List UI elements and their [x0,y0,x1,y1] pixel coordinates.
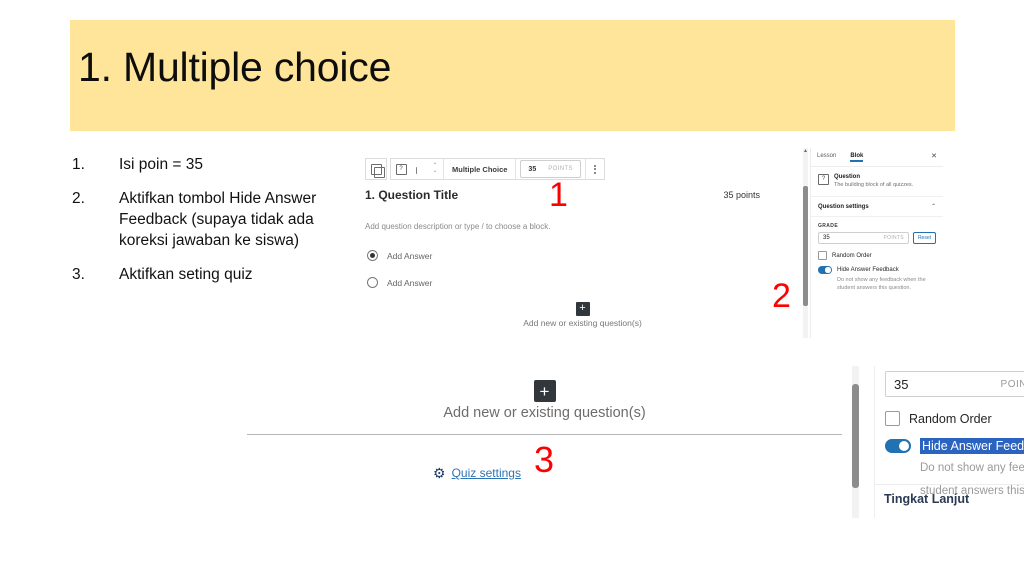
inset-hide-feedback-row[interactable]: Hide Answer Feedba [885,438,1024,454]
inset-grade-unit: POIN [1001,379,1024,390]
grade-label: GRADE [818,223,936,229]
blocks-icon [371,164,382,175]
move-block-arrows[interactable]: ⌃ ⌄ [427,164,443,174]
list-item-number: 3. [72,265,119,286]
lower-add-question-label[interactable]: Add new or existing question(s) [247,405,842,421]
question-icon: ? [818,174,829,185]
answer-label: Add Answer [387,278,432,288]
quiz-settings-link[interactable]: Quiz settings [452,466,521,480]
inset-hide-feedback-label: Hide Answer Feedba [920,438,1024,454]
reset-button[interactable]: Reset [913,232,936,244]
list-item-text: Aktifkan seting quiz [119,265,253,286]
tab-blok[interactable]: Blok [850,153,863,162]
answer-option-2[interactable]: Add Answer [367,277,432,288]
list-item-text: Isi poin = 35 [119,155,203,176]
close-icon[interactable]: ✕ [931,152,937,160]
random-order-label: Random Order [832,253,872,259]
quiz-settings-row[interactable]: ⚙ Quiz settings [247,466,707,480]
points-unit: POINTS [548,166,573,172]
question-settings-title: Question settings [818,204,869,210]
toggle-switch-on[interactable] [818,266,832,274]
hide-answer-feedback-row[interactable]: Hide Answer Feedback [818,266,936,274]
question-block-button[interactable]: ? [391,159,411,179]
inset-next-section-label: Tingkat Lanjut [884,492,969,506]
points-value: 35 [528,166,536,173]
more-options-icon[interactable] [586,165,604,174]
list-item: 2. Aktifkan tombol Hide Answer Feedback … [72,189,337,252]
answer-option-1[interactable]: Add Answer [367,250,432,261]
instruction-list: 1. Isi poin = 35 2. Aktifkan tombol Hide… [72,155,337,299]
question-description-placeholder[interactable]: Add question description or type / to ch… [365,222,550,231]
chevron-down-icon: ⌄ [432,169,437,174]
gear-icon: ⚙ [433,466,446,480]
drag-handle-icon[interactable] [411,167,427,172]
toolbar-group-main: ? ⌃ ⌄ Multiple Choice 35 POINTS [390,158,605,180]
inset-grade-input[interactable]: 35 POIN [885,371,1024,397]
add-question-area: + Add new or existing question(s) [360,298,805,328]
divider [247,434,842,435]
hide-answer-feedback-label: Hide Answer Feedback [837,267,899,273]
radio-icon[interactable] [367,277,378,288]
chevron-up-icon[interactable]: ⌃ [931,203,936,210]
question-title[interactable]: 1. Question Title [365,188,458,202]
list-item-number: 1. [72,155,119,176]
settings-panel-zoom-inset: 35 POIN Random Order Hide Answer Feedba … [852,366,1024,518]
plus-icon[interactable]: + [576,302,590,316]
page-title: 1. Multiple choice [78,44,391,91]
divider [874,484,1024,485]
inset-grade-value: 35 [894,377,908,392]
question-settings-body: GRADE 35 POINTS Reset Random Order Hide … [811,217,943,299]
add-question-label[interactable]: Add new or existing question(s) [360,318,805,328]
grade-points-input[interactable]: 35 POINTS [818,232,909,244]
list-item-number: 2. [72,189,119,252]
block-description: The building block of all quizzes. [834,182,913,188]
grade-row: 35 POINTS Reset [818,232,936,244]
editor-scrollbar[interactable]: ▲ [803,148,808,338]
inset-random-order-row[interactable]: Random Order [885,411,1024,426]
settings-panel: Lesson Blok ✕ ? Question The building bl… [810,148,943,338]
list-item: 1. Isi poin = 35 [72,155,337,176]
plus-icon[interactable]: + [534,380,556,402]
question-editor-screenshot: ? ⌃ ⌄ Multiple Choice 35 POINTS [360,148,805,338]
checkbox-icon[interactable] [885,411,900,426]
checkbox-icon[interactable] [818,251,827,260]
list-item: 3. Aktifkan seting quiz [72,265,337,286]
radio-icon-selected[interactable] [367,250,378,261]
random-order-row[interactable]: Random Order [818,251,936,260]
answer-label: Add Answer [387,251,432,261]
inset-scrollbar[interactable] [852,366,859,518]
lower-add-question-area: + Add new or existing question(s) [247,380,842,421]
scrollbar-thumb[interactable] [803,186,808,306]
block-info: ? Question The building block of all qui… [811,167,943,197]
toolbar-group-block [365,158,387,180]
annotation-2: 2 [772,279,791,313]
inset-bottom-mask [852,518,1024,576]
annotation-3: 3 [534,443,554,477]
grade-points-unit: POINTS [884,235,904,241]
block-switcher-button[interactable] [366,159,386,179]
slide: 1. Multiple choice 1. Isi poin = 35 2. A… [0,0,1024,576]
grade-points-value: 35 [823,235,830,241]
question-settings-header[interactable]: Question settings ⌃ [811,197,943,217]
list-item-text: Aktifkan tombol Hide Answer Feedback (su… [119,189,337,252]
inset-description-line1: Do not show any feed [920,460,1024,477]
annotation-1: 1 [549,178,568,212]
toggle-switch-on[interactable] [885,439,911,453]
block-type-label[interactable]: Multiple Choice [444,159,515,179]
inset-random-order-label: Random Order [909,412,992,426]
block-toolbar: ? ⌃ ⌄ Multiple Choice 35 POINTS [365,158,605,180]
scroll-up-arrow-icon[interactable]: ▲ [803,148,808,154]
hide-answer-feedback-description: Do not show any feedback when the studen… [837,277,936,293]
question-icon: ? [396,164,407,175]
block-name: Question [834,174,913,180]
question-points-label: 35 points [723,190,760,200]
tab-lesson[interactable]: Lesson [817,153,836,162]
panel-tabs: Lesson Blok ✕ [811,148,943,167]
scrollbar-thumb[interactable] [852,384,859,488]
toolbar-divider [515,159,516,179]
